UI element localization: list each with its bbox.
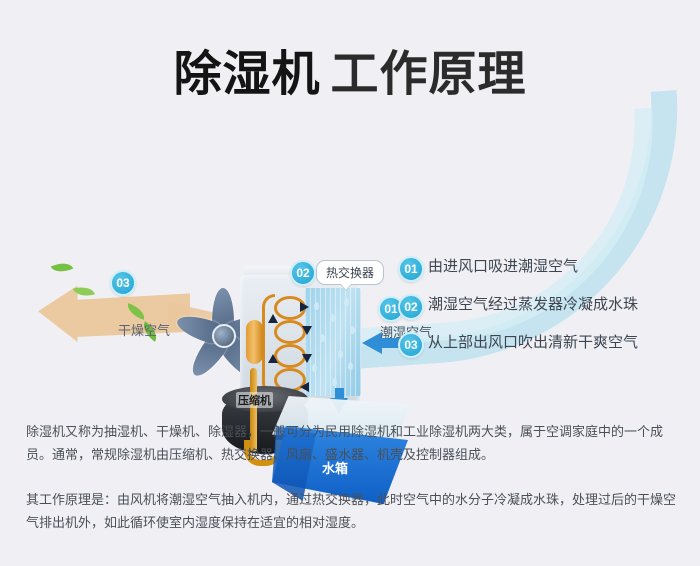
legend-text-03: 从上部出风口吹出清新干爽空气 [428,331,638,355]
legend-item: 01 由进风口吸进潮湿空气 [398,255,688,293]
title-sub: 工作原理 [331,48,527,101]
legend-badge-03: 03 [398,332,424,358]
heat-exchanger-callout: 热交换器 [316,260,384,285]
flow-arrow-up-icon [268,354,278,363]
flow-arrow-right-icon [300,302,309,312]
legend-text-02: 潮湿空气经过蒸发器冷凝成水珠 [428,293,638,317]
legend-text-01: 由进风口吸进潮湿空气 [428,255,578,279]
callout-badge-02: 02 [290,260,316,286]
dry-air-label: 干燥空气 [118,320,170,339]
legend-badge-01: 01 [398,256,424,282]
water-droplet-icon [320,334,325,342]
flow-arrow-left-icon [300,382,309,392]
water-droplet-icon [314,302,319,310]
flow-arrow-up-icon [268,314,278,323]
water-droplet-icon [338,350,343,358]
water-droplet-icon [350,326,355,334]
flow-arrow-down-icon [302,326,312,335]
flow-arrow-down-icon [302,354,312,363]
page-title: 除湿机工作原理 [0,34,700,104]
description-paragraph-2: 其工作原理是：由风机将潮湿空气抽入机内，通过热交换器，此时空气中的水分子冷凝成水… [26,488,676,534]
water-droplet-icon [312,364,317,372]
infographic-page: 除湿机工作原理 [0,0,700,566]
water-droplet-icon [330,314,335,322]
legend-item: 03 从上部出风口吹出清新干爽空气 [398,331,688,369]
water-droplet-icon [332,378,337,386]
water-droplet-icon [348,362,353,370]
fan-hub-icon [212,324,236,348]
legend-item: 02 潮湿空气经过蒸发器冷凝成水珠 [398,293,688,331]
description-paragraph-1: 除湿机又称为抽湿机、干燥机、除湿器，一般可分为民用除湿机和工业除湿机两大类，属于… [26,420,676,466]
leaf-icon [51,258,74,276]
compressor-label: 压缩机 [236,392,273,408]
legend-badge-02: 02 [398,294,424,320]
title-main: 除湿机 [173,48,320,101]
water-droplet-icon [344,298,349,306]
receiver-cylinder-icon [246,320,263,364]
callout-badge-03: 03 [110,270,136,296]
legend-list: 01 由进风口吸进潮湿空气 02 潮湿空气经过蒸发器冷凝成水珠 03 从上部出风… [398,255,688,369]
